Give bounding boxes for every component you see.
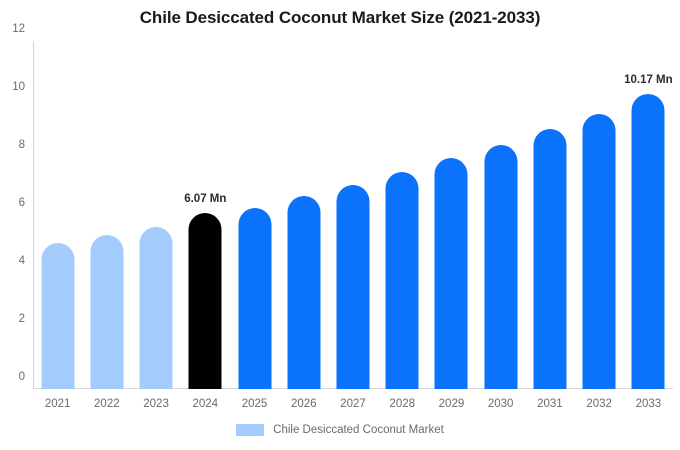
bar[interactable] — [533, 129, 566, 389]
y-axis-tick-label: 8 — [19, 139, 25, 151]
bar-value-label: 10.17 Mn — [624, 74, 673, 86]
chart-legend: Chile Desiccated Coconut Market — [0, 424, 680, 436]
bar-slot: 2029 — [427, 41, 476, 389]
x-axis-tick-label: 2033 — [636, 398, 662, 410]
bar-slot: 2031 — [525, 41, 574, 389]
bar-chart: Chile Desiccated Coconut Market Size (20… — [0, 0, 680, 450]
x-axis-tick-label: 2030 — [488, 398, 514, 410]
x-axis-tick-label: 2028 — [389, 398, 415, 410]
y-axis-tick-label: 10 — [12, 81, 25, 93]
x-axis-tick-label: 2032 — [586, 398, 612, 410]
bar[interactable] — [287, 196, 320, 389]
bar-value-label: 6.07 Mn — [184, 193, 226, 205]
bar[interactable] — [238, 208, 271, 389]
bar[interactable] — [336, 185, 369, 389]
bar[interactable] — [484, 145, 517, 389]
bar[interactable] — [140, 227, 173, 389]
bar-slot: 2027 — [328, 41, 377, 389]
bar-slot: 2023 — [131, 41, 180, 389]
plot-area: 024681012 2021202220236.07 Mn20242025202… — [33, 41, 673, 389]
legend-swatch-icon — [236, 424, 264, 436]
x-axis-tick-label: 2027 — [340, 398, 366, 410]
bar-slot: 2032 — [575, 41, 624, 389]
x-axis-tick-label: 2024 — [193, 398, 219, 410]
bar[interactable] — [386, 172, 419, 390]
y-axis-tick-label: 4 — [19, 255, 25, 267]
bar-slot: 2030 — [476, 41, 525, 389]
x-axis-tick-label: 2022 — [94, 398, 120, 410]
bar-slot: 2026 — [279, 41, 328, 389]
bar-slot: 2028 — [378, 41, 427, 389]
bar-slot: 6.07 Mn2024 — [181, 41, 230, 389]
y-axis-tick-label: 0 — [19, 371, 25, 383]
y-axis-tick-label: 6 — [19, 197, 25, 209]
x-axis-tick-label: 2031 — [537, 398, 563, 410]
bar[interactable] — [41, 243, 74, 389]
chart-title: Chile Desiccated Coconut Market Size (20… — [0, 8, 680, 28]
bar[interactable] — [189, 213, 222, 389]
x-axis-tick-label: 2023 — [143, 398, 169, 410]
bar[interactable] — [632, 94, 665, 389]
bar-slot: 2022 — [82, 41, 131, 389]
bar-slot: 10.17 Mn2033 — [624, 41, 673, 389]
bar-slot: 2025 — [230, 41, 279, 389]
x-axis-tick-label: 2026 — [291, 398, 317, 410]
bar-slot: 2021 — [33, 41, 82, 389]
legend-item-label: Chile Desiccated Coconut Market — [273, 424, 444, 436]
y-axis-tick-label: 2 — [19, 313, 25, 325]
x-axis-tick-label: 2021 — [45, 398, 71, 410]
x-axis-tick-label: 2029 — [439, 398, 465, 410]
bar[interactable] — [435, 158, 468, 389]
bar[interactable] — [583, 114, 616, 390]
bar[interactable] — [90, 235, 123, 389]
y-axis-tick-label: 12 — [12, 23, 25, 35]
x-axis-tick-label: 2025 — [242, 398, 268, 410]
